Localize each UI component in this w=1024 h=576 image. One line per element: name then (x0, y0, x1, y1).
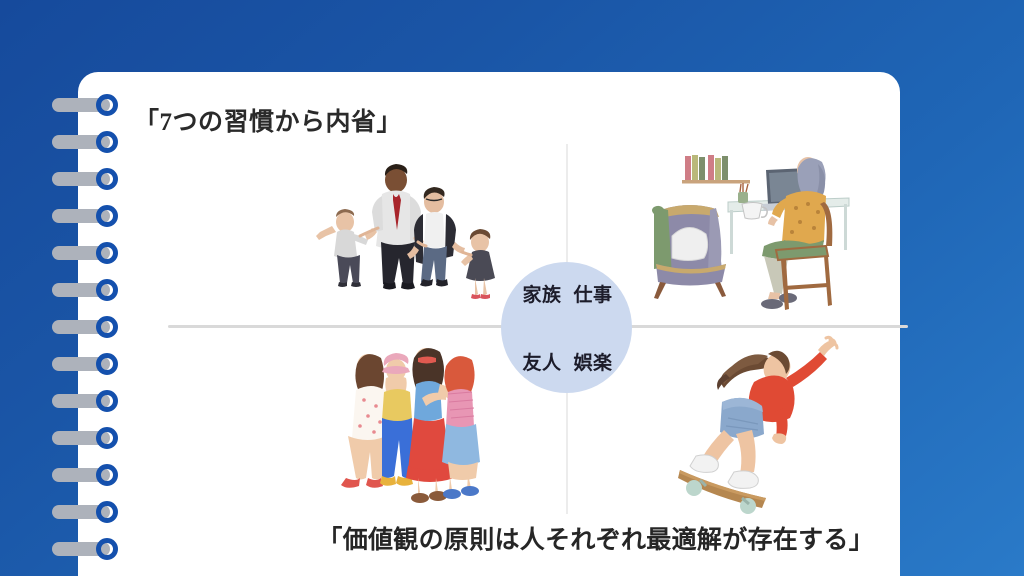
home-office-illustration (636, 146, 861, 326)
quadrant-label-work: 仕事 (567, 262, 633, 328)
quadrant-label-friends: 友人 (501, 328, 567, 394)
spiral-ring-loop (96, 131, 118, 153)
spiral-ring (52, 353, 124, 375)
spiral-ring (52, 390, 124, 412)
family-walking-illustration (310, 154, 510, 319)
quadrant-chart-area: 家族 仕事 友人 娯楽 (168, 144, 908, 514)
spiral-ring (52, 242, 124, 264)
quadrant-label-leisure: 娯楽 (567, 328, 633, 394)
spiral-ring (52, 538, 124, 560)
spiral-ring-loop (96, 353, 118, 375)
spiral-ring (52, 316, 124, 338)
spiral-ring-loop (96, 316, 118, 338)
center-circle-labels: 家族 仕事 友人 娯楽 (501, 262, 632, 393)
spiral-ring-loop (96, 205, 118, 227)
spiral-ring-loop (96, 501, 118, 523)
spiral-ring (52, 205, 124, 227)
spiral-ring-loop (96, 390, 118, 412)
skateboarder-illustration (676, 334, 846, 514)
page-title: 「7つの習慣から内省」 (134, 102, 402, 138)
spiral-ring (52, 279, 124, 301)
spiral-ring (52, 168, 124, 190)
friends-group-illustration (326, 336, 521, 514)
spiral-ring (52, 464, 124, 486)
spiral-ring (52, 427, 124, 449)
spiral-ring-loop (96, 279, 118, 301)
spiral-ring (52, 94, 124, 116)
spiral-ring-loop (96, 94, 118, 116)
notebook-page-card: 「7つの習慣から内省」 (78, 72, 900, 576)
quadrant-label-family: 家族 (501, 262, 567, 328)
spiral-ring-loop (96, 427, 118, 449)
spiral-ring-loop (96, 538, 118, 560)
page-caption: 「価値観の原則は人それぞれ最適解が存在する」 (78, 520, 874, 556)
spiral-ring (52, 131, 124, 153)
spiral-ring (52, 501, 124, 523)
spiral-ring-loop (96, 242, 118, 264)
spiral-ring-loop (96, 464, 118, 486)
spiral-binding (52, 94, 132, 564)
spiral-ring-loop (96, 168, 118, 190)
